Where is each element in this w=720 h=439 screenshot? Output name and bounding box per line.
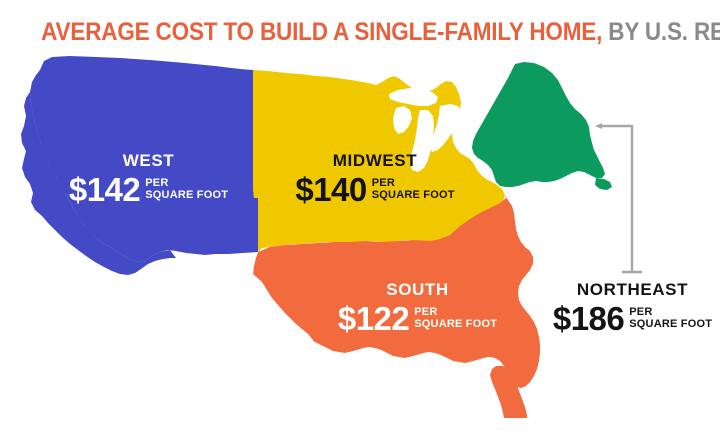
region-unit-line1-west: PER xyxy=(145,178,228,190)
region-price-midwest: $140 xyxy=(295,174,366,205)
region-unit-northeast: PER SQUARE FOOT xyxy=(629,307,712,331)
region-unit-line1-midwest: PER xyxy=(372,178,455,190)
region-price-south: $122 xyxy=(338,303,409,334)
region-unit-line2-midwest: SQUARE FOOT xyxy=(372,190,455,202)
page-title: AVERAGE COST TO BUILD A SINGLE-FAMILY HO… xyxy=(0,18,720,47)
region-name-west: WEST xyxy=(36,152,261,169)
region-price-northeast: $186 xyxy=(553,303,624,334)
map-region-northeast[interactable] xyxy=(472,62,605,187)
region-label-northeast: NORTHEAST $186 PER SQUARE FOOT xyxy=(545,281,720,334)
region-value-south: $122 PER SQUARE FOOT xyxy=(315,303,520,334)
page-title-sub: BY U.S. REGION xyxy=(602,18,720,46)
region-label-midwest: MIDWEST $140 PER SQUARE FOOT xyxy=(270,152,480,205)
map-northeast-coast-detail xyxy=(595,178,612,190)
region-label-south: SOUTH $122 PER SQUARE FOOT xyxy=(315,281,520,334)
region-unit-west: PER SQUARE FOOT xyxy=(145,178,228,202)
region-unit-line1-south: PER xyxy=(414,307,497,319)
region-label-west: WEST $142 PER SQUARE FOOT xyxy=(36,152,261,205)
us-region-map xyxy=(0,48,720,418)
region-name-northeast: NORTHEAST xyxy=(545,281,720,298)
region-value-northeast: $186 PER SQUARE FOOT xyxy=(545,303,720,334)
region-value-midwest: $140 PER SQUARE FOOT xyxy=(270,174,480,205)
region-unit-line2-south: SQUARE FOOT xyxy=(414,319,497,331)
region-unit-line2-northeast: SQUARE FOOT xyxy=(629,319,712,331)
region-price-west: $142 xyxy=(69,174,140,205)
region-name-midwest: MIDWEST xyxy=(270,152,480,169)
region-name-south: SOUTH xyxy=(315,281,520,298)
region-unit-midwest: PER SQUARE FOOT xyxy=(372,178,455,202)
region-unit-line1-northeast: PER xyxy=(629,307,712,319)
infographic-root: AVERAGE COST TO BUILD A SINGLE-FAMILY HO… xyxy=(0,0,720,439)
region-value-west: $142 PER SQUARE FOOT xyxy=(36,174,261,205)
region-unit-south: PER SQUARE FOOT xyxy=(414,307,497,331)
page-title-main: AVERAGE COST TO BUILD A SINGLE-FAMILY HO… xyxy=(41,18,602,46)
region-unit-line2-west: SQUARE FOOT xyxy=(145,190,228,202)
